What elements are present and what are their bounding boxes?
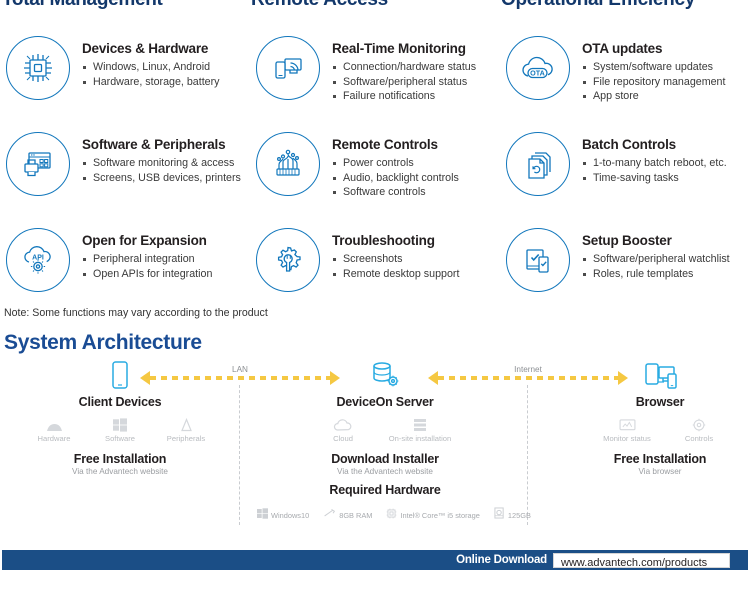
feature-list: Power controls Audio, backlight controls… — [332, 156, 459, 200]
feature-card-software-peripherals: Software & Peripherals Software monitori… — [0, 106, 250, 202]
list-item: Roles, rule templates — [582, 267, 730, 282]
feature-rows: Devices & Hardware Windows, Linux, Andro… — [0, 10, 750, 298]
section-title-system-architecture: System Architecture — [4, 331, 202, 355]
list-item: Software/peripheral watchlist — [582, 252, 730, 267]
stacked-files-icon — [506, 132, 570, 196]
list-item: Peripheral integration — [82, 252, 212, 267]
divider-left — [239, 385, 240, 525]
feature-title: Remote Controls — [332, 137, 459, 153]
list-item: Software/peripheral status — [332, 75, 476, 90]
list-item: Software controls — [332, 185, 459, 200]
product-note: Note: Some functions may vary according … — [4, 307, 268, 319]
feature-text: Real-Time Monitoring Connection/hardware… — [320, 22, 476, 104]
printer-screen-icon — [6, 132, 70, 196]
chip-icon — [6, 36, 70, 100]
list-item: System/software updates — [582, 60, 725, 75]
node-subitems: Hardware Software Peripherals — [20, 415, 220, 443]
feature-row: API Open for Expansion Peripheral integr… — [0, 202, 750, 298]
circuit-control-icon — [256, 132, 320, 196]
feature-text: Troubleshooting Screenshots Remote deskt… — [320, 214, 459, 281]
block-subtitle: Via browser — [565, 467, 750, 476]
list-item: Power controls — [332, 156, 459, 171]
feature-list: Windows, Linux, Android Hardware, storag… — [82, 60, 220, 89]
subitem-label: Software — [87, 434, 153, 443]
block-title: Free Installation — [565, 452, 750, 466]
list-item: Remote desktop support — [332, 267, 459, 282]
subitem-label: Cloud — [308, 434, 378, 443]
hardware-requirements-row: Windows10 8GB RAM Intel® Core™ i5 storag… — [257, 506, 531, 524]
node-subitems: Monitor status Controls — [565, 415, 750, 443]
svg-text:OTA: OTA — [530, 69, 545, 78]
feature-card-batch-controls: Batch Controls 1-to-many batch reboot, e… — [500, 106, 750, 202]
feature-list: Software/peripheral watchlist Roles, rul… — [582, 252, 730, 281]
subitem-controls: Controls — [666, 415, 732, 443]
feature-title: Open for Expansion — [82, 233, 212, 249]
ota-cloud-icon: OTA — [506, 36, 570, 100]
node-title: Client Devices — [20, 395, 220, 409]
list-item: Open APIs for integration — [82, 267, 212, 282]
controls-gear-icon — [666, 415, 732, 432]
divider-right — [527, 385, 528, 525]
peripheral-icon — [153, 415, 219, 432]
feature-list: Software monitoring & access Screens, US… — [82, 156, 241, 185]
feature-list: System/software updates File repository … — [582, 60, 725, 104]
hardware-requirements-title: Required Hardware — [290, 483, 480, 497]
subitem-peripherals: Peripherals — [153, 415, 219, 443]
feature-text: Open for Expansion Peripheral integratio… — [70, 214, 212, 281]
database-gear-icon — [290, 360, 480, 392]
list-item: File repository management — [582, 75, 725, 90]
feature-title: Software & Peripherals — [82, 137, 241, 153]
subitem-label: Peripherals — [153, 434, 219, 443]
feature-row: Devices & Hardware Windows, Linux, Andro… — [0, 10, 750, 106]
api-cloud-icon: API — [6, 228, 70, 292]
feature-text: Software & Peripherals Software monitori… — [70, 118, 241, 185]
feature-card-open-for-expansion: API Open for Expansion Peripheral integr… — [0, 202, 250, 298]
feature-row: Software & Peripherals Software monitori… — [0, 106, 750, 202]
server-rack-icon — [378, 415, 462, 432]
gear-wrench-icon — [256, 228, 320, 292]
feature-grid: Total Management Remote Access Operation… — [0, 0, 750, 298]
hardware-item-cpu: Intel® Core™ i5 storage — [386, 506, 479, 524]
hardware-item-label: 125GB — [508, 511, 531, 520]
node-subitems: Cloud On-site installation — [290, 415, 480, 443]
list-item: Audio, backlight controls — [332, 171, 459, 186]
feature-card-devices-hardware: Devices & Hardware Windows, Linux, Andro… — [0, 10, 250, 106]
node-client-devices: Client Devices Hardware So — [20, 360, 220, 476]
list-item: Windows, Linux, Android — [82, 60, 220, 75]
feature-text: Batch Controls 1-to-many batch reboot, e… — [570, 118, 727, 185]
subitem-monitor-status: Monitor status — [588, 415, 666, 443]
feature-card-troubleshooting: Troubleshooting Screenshots Remote deskt… — [250, 202, 500, 298]
devices-browser-icon — [565, 360, 750, 392]
feature-text: OTA updates System/software updates File… — [570, 22, 725, 104]
feature-text: Remote Controls Power controls Audio, ba… — [320, 118, 459, 200]
architecture-diagram: LAN Internet Client Devices — [0, 360, 750, 535]
footer-bar: Online Download www.advantech.com/produc… — [2, 550, 748, 570]
hardware-item-ram: 8GB RAM — [323, 506, 372, 524]
feature-text: Devices & Hardware Windows, Linux, Andro… — [70, 22, 220, 89]
subitem-label: Hardware — [21, 434, 87, 443]
subitem-label: On-site installation — [378, 434, 462, 443]
list-item: Failure notifications — [332, 89, 476, 104]
hardware-item-storage: 125GB — [494, 506, 531, 524]
list-item: App store — [582, 89, 725, 104]
feature-card-real-time-monitoring: Real-Time Monitoring Connection/hardware… — [250, 10, 500, 106]
node-deviceon-server: DeviceOn Server Cloud On-site installat — [290, 360, 480, 497]
feature-card-ota-updates: OTA OTA updates System/software updates … — [500, 10, 750, 106]
cloud-icon — [308, 415, 378, 432]
cpu-icon — [386, 506, 397, 524]
feature-title: Setup Booster — [582, 233, 730, 249]
windows-icon — [257, 506, 268, 524]
hardware-item-label: Intel® Core™ i5 storage — [400, 511, 479, 520]
list-item: Time-saving tasks — [582, 171, 727, 186]
block-title: Download Installer — [290, 452, 480, 466]
feature-list: Connection/hardware status Software/peri… — [332, 60, 476, 104]
feature-list: Screenshots Remote desktop support — [332, 252, 459, 281]
node-title: Browser — [565, 395, 750, 409]
hardware-item-windows: Windows10 — [257, 506, 309, 524]
block-subtitle: Via the Advantech website — [20, 467, 220, 476]
subitem-label: Monitor status — [588, 434, 666, 443]
hardware-item-label: 8GB RAM — [339, 511, 372, 520]
list-item: Connection/hardware status — [332, 60, 476, 75]
feature-card-remote-controls: Remote Controls Power controls Audio, ba… — [250, 106, 500, 202]
windows-icon — [87, 415, 153, 432]
ram-icon — [323, 506, 336, 524]
hardware-item-label: Windows10 — [271, 511, 309, 520]
storage-icon — [494, 506, 505, 524]
subitem-label: Controls — [666, 434, 732, 443]
list-item: Screens, USB devices, printers — [82, 171, 241, 186]
list-item: 1-to-many batch reboot, etc. — [582, 156, 727, 171]
subitem-hardware: Hardware — [21, 415, 87, 443]
footer-label-online-download: Online Download — [456, 554, 547, 566]
column-headings-row: Total Management Remote Access Operation… — [0, 0, 750, 10]
footer-url-field[interactable]: www.advantech.com/products — [553, 553, 730, 568]
feature-title: Real-Time Monitoring — [332, 41, 476, 57]
android-icon — [21, 415, 87, 432]
node-title: DeviceOn Server — [290, 395, 480, 409]
monitor-status-icon — [588, 415, 666, 432]
list-item: Software monitoring & access — [82, 156, 241, 171]
feature-title: OTA updates — [582, 41, 725, 57]
feature-title: Batch Controls — [582, 137, 727, 153]
feature-text: Setup Booster Software/peripheral watchl… — [570, 214, 730, 281]
block-title: Free Installation — [20, 452, 220, 466]
node-browser: Browser Monitor status — [565, 360, 750, 476]
feature-title: Devices & Hardware — [82, 41, 220, 57]
list-item: Screenshots — [332, 252, 459, 267]
feature-list: Peripheral integration Open APIs for int… — [82, 252, 212, 281]
tablet-icon — [20, 360, 220, 392]
list-item: Hardware, storage, battery — [82, 75, 220, 90]
monitor-phone-signal-icon — [256, 36, 320, 100]
block-subtitle: Via the Advantech website — [290, 467, 480, 476]
subitem-software: Software — [87, 415, 153, 443]
feature-card-setup-booster: Setup Booster Software/peripheral watchl… — [500, 202, 750, 298]
subitem-onsite-installation: On-site installation — [378, 415, 462, 443]
checklist-devices-icon — [506, 228, 570, 292]
feature-title: Troubleshooting — [332, 233, 459, 249]
subitem-cloud: Cloud — [308, 415, 378, 443]
feature-list: 1-to-many batch reboot, etc. Time-saving… — [582, 156, 727, 185]
